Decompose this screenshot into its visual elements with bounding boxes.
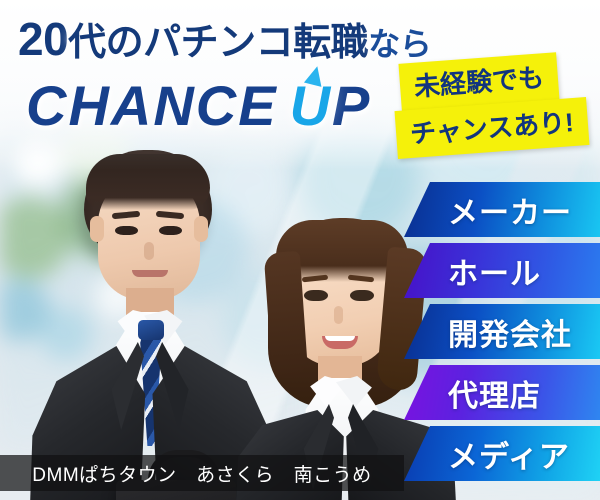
category-list: メーカー ホール 開発会社 代理店 メディア (404, 182, 600, 487)
woman-eye-left (304, 290, 328, 301)
caption-bar: DMMぱちタウン あさくら 南こうめ (0, 455, 404, 491)
man-eye-right (159, 226, 182, 235)
woman-eye-right (350, 290, 374, 301)
category-item-developer[interactable]: 開発会社 (404, 304, 600, 359)
category-item-hall[interactable]: ホール (404, 243, 600, 298)
category-item-maker[interactable]: メーカー (404, 182, 600, 237)
headline-main: 代のパチンコ転職 (68, 22, 368, 64)
pachinko-job-ad-banner[interactable]: 20代のパチンコ転職なら CHANCEUP 未経験でも チャンスあり! メーカー… (0, 0, 600, 500)
chance-up-logo: CHANCEUP (26, 78, 371, 134)
category-label-media: メディア (448, 432, 570, 476)
category-label-agency: 代理店 (448, 371, 541, 415)
logo-letter-u: U (290, 78, 332, 134)
logo-letter-p: P (332, 74, 371, 137)
headline: 20代のパチンコ転職なら (18, 16, 431, 62)
headline-number: 20 (18, 13, 68, 65)
man-tie-knot (138, 320, 164, 340)
logo-word-chance: CHANCE (26, 74, 278, 137)
category-label-hall: ホール (448, 249, 541, 293)
caption-text: DMMぱちタウン あさくら 南こうめ (32, 460, 371, 487)
woman-nose (334, 306, 343, 324)
man-ear-left (90, 216, 104, 242)
category-label-developer: 開発会社 (448, 310, 572, 354)
category-item-media[interactable]: メディア (404, 426, 600, 481)
man-fringe (86, 154, 210, 210)
man-ear-right (194, 216, 208, 242)
man-mouth (132, 270, 168, 277)
man-eye-left (115, 226, 138, 235)
category-label-maker: メーカー (448, 188, 572, 232)
logo-word-up: UP (290, 78, 372, 134)
headline-tail: なら (368, 26, 431, 62)
businessman-photo (28, 150, 268, 500)
woman-teeth (325, 336, 355, 341)
category-item-agency[interactable]: 代理店 (404, 365, 600, 420)
man-nose (144, 242, 154, 260)
up-arrow-icon (304, 64, 326, 87)
